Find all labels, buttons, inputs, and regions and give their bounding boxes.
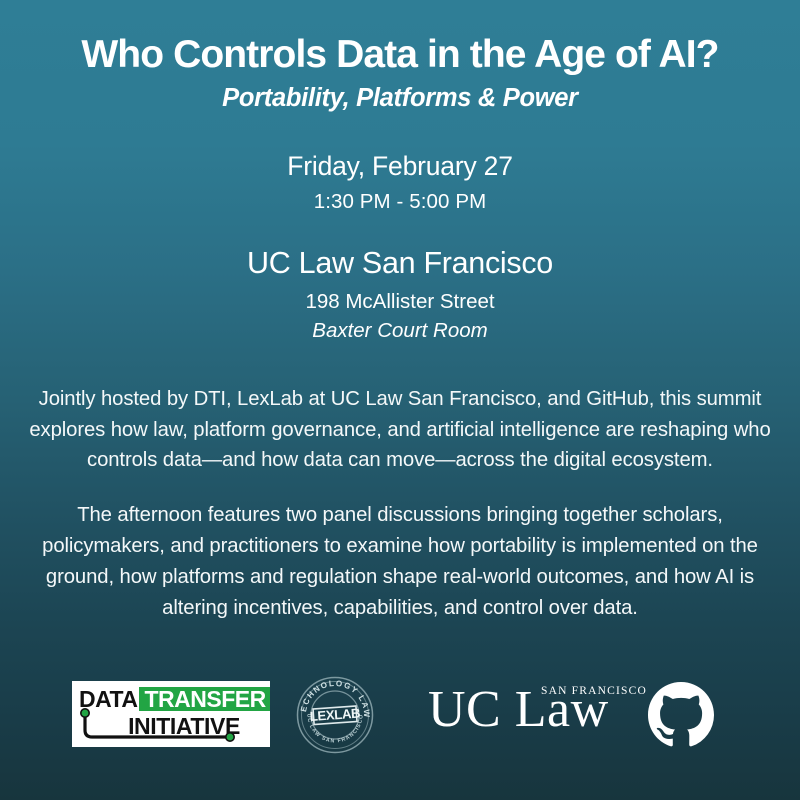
dti-logo-line-1: DATA TRANSFER xyxy=(79,687,263,711)
description-paragraph-1: Jointly hosted by DTI, LexLab at UC Law … xyxy=(19,384,781,477)
github-logo xyxy=(648,682,714,748)
description-paragraph-2: The afternoon features two panel discuss… xyxy=(19,500,781,623)
page-title: Who Controls Data in the Age of AI? xyxy=(30,34,770,76)
dti-word-initiative: INITIATIVE xyxy=(79,712,263,740)
lexlab-logo: TECHNOLOGY LAW UC LAW SAN FRANCISCO LEXL… xyxy=(296,676,374,754)
event-flyer: Who Controls Data in the Age of AI? Port… xyxy=(0,0,800,800)
event-description: Jointly hosted by DTI, LexLab at UC Law … xyxy=(19,384,781,624)
headline-block: Who Controls Data in the Age of AI? Port… xyxy=(30,34,770,113)
dti-logo-line-2: INITIATIVE xyxy=(79,712,263,740)
event-time: 1:30 PM - 5:00 PM xyxy=(287,190,512,215)
lexlab-seal-icon: TECHNOLOGY LAW UC LAW SAN FRANCISCO LEXL… xyxy=(296,676,374,754)
dti-word-transfer: TRANSFER xyxy=(139,687,269,711)
dti-logo: DATA TRANSFER INITIATIVE xyxy=(72,681,270,747)
uc-law-logo: UC Law SAN FRANCISCO xyxy=(428,684,624,742)
event-date: Friday, February 27 xyxy=(287,151,512,183)
sponsor-logo-row: DATA TRANSFER INITIATIVE xyxy=(0,668,800,768)
dti-word-data: DATA xyxy=(79,687,137,711)
page-subtitle: Portability, Platforms & Power xyxy=(30,84,770,113)
venue-room: Baxter Court Room xyxy=(247,318,553,344)
venue-street: 198 McAllister Street xyxy=(247,289,553,315)
event-venue-block: UC Law San Francisco 198 McAllister Stre… xyxy=(247,245,553,344)
github-octocat-icon xyxy=(648,682,714,748)
event-datetime-block: Friday, February 27 1:30 PM - 5:00 PM xyxy=(287,151,512,214)
venue-name: UC Law San Francisco xyxy=(247,245,553,282)
uc-law-location-label: SAN FRANCISCO xyxy=(541,686,647,698)
